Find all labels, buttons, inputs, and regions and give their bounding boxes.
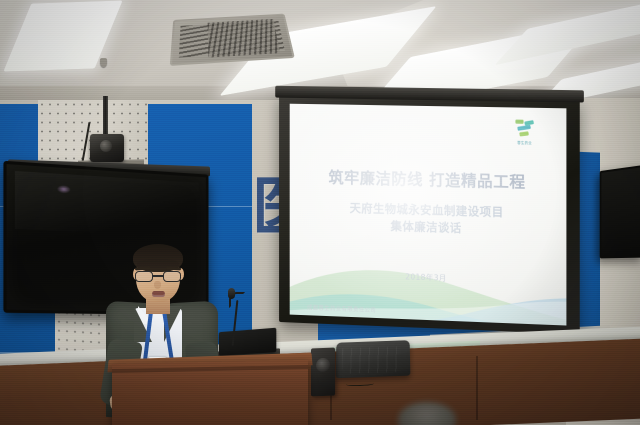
photo-scene: 医 (0, 0, 640, 425)
speaker-cone-icon (316, 358, 330, 372)
right-wall-display[interactable] (600, 165, 640, 259)
ceiling-air-vent-icon (170, 14, 295, 66)
vent-fins-inner (208, 19, 280, 58)
slide-subtitle: 天府生物城永安血制建设项目 集体廉洁谈话 (290, 198, 567, 240)
company-logo: 蓉生药业 (509, 119, 539, 152)
glasses-bridge (153, 275, 163, 277)
mouth (152, 291, 165, 297)
nose (154, 281, 161, 289)
screen-reflection (57, 185, 71, 194)
projection-screen[interactable]: 蓉生药业 筑牢廉洁防线 打造精品工程 天府生物城永安血制建设项目 集体廉洁谈话 … (279, 94, 580, 334)
table-seam-2 (476, 356, 478, 420)
fire-sprinkler-icon-1 (100, 58, 107, 67)
microphone-icon[interactable] (228, 288, 235, 299)
screen-glare (15, 170, 198, 236)
floor-speaker (311, 348, 335, 397)
slide-title: 筑牢廉洁防线 打造精品工程 (290, 165, 567, 194)
projector-lens (100, 140, 112, 152)
office-chair[interactable] (336, 340, 411, 378)
lens-right (163, 271, 181, 282)
slide-surface: 蓉生药业 筑牢廉洁防线 打造精品工程 天府生物城永安血制建设项目 集体廉洁谈话 … (290, 104, 567, 326)
logo-text: 蓉生药业 (510, 141, 539, 146)
lens-left (135, 271, 153, 282)
logo-mark-icon (513, 120, 535, 141)
